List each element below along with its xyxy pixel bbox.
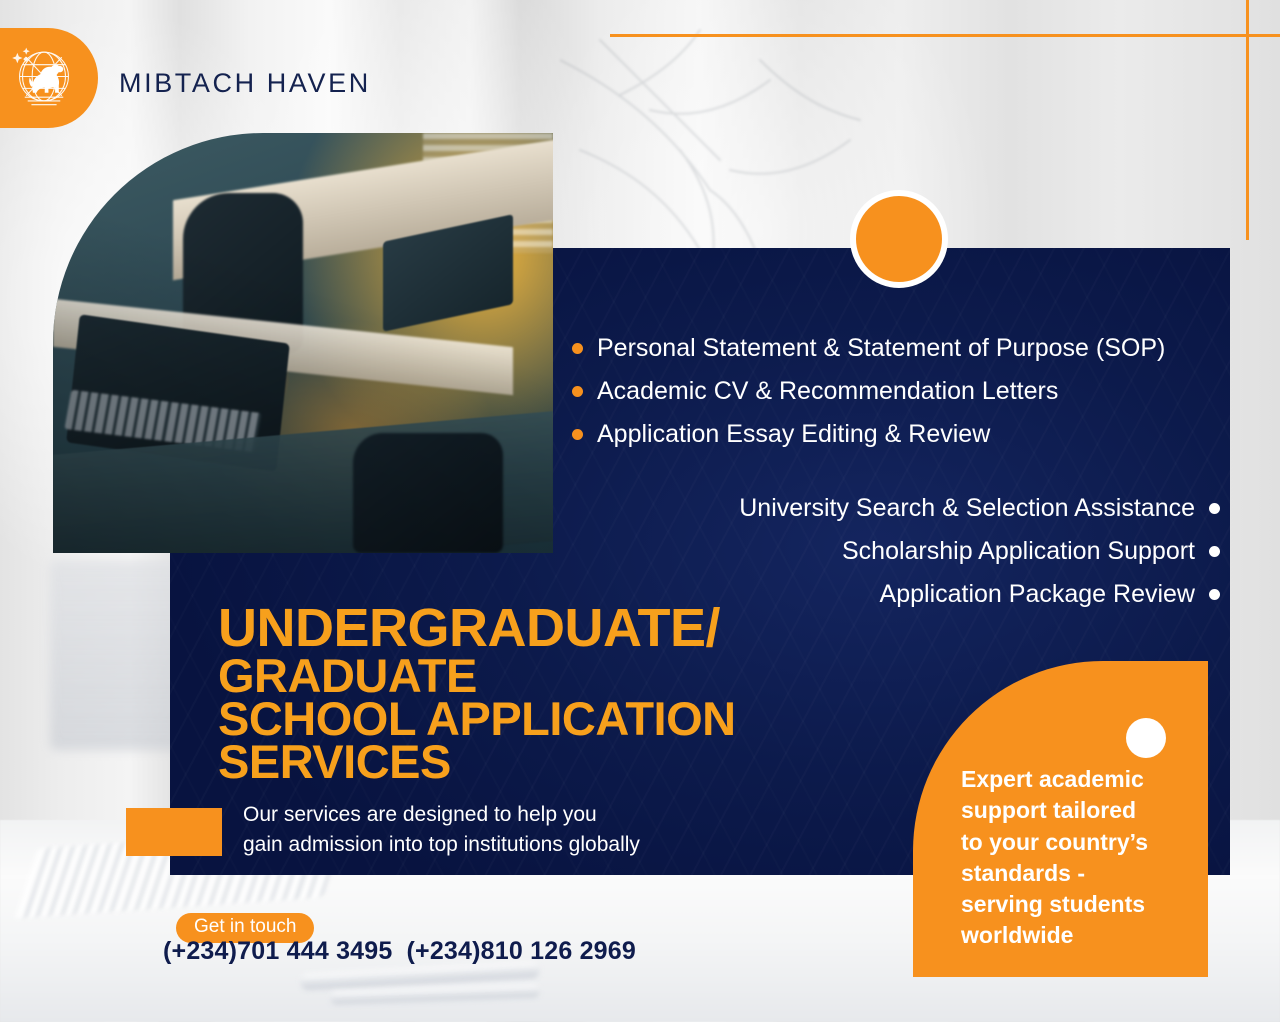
headline: UNDERGRADUATE/ GRADUATE SCHOOL APPLICATI…	[218, 604, 736, 783]
headline-line-3: SCHOOL APPLICATION	[218, 697, 736, 740]
brand-name: MIBTACH HAVEN	[119, 68, 371, 99]
bullet-dot-icon	[572, 386, 583, 397]
horizontal-accent-rule	[610, 34, 1280, 37]
phone-number-2[interactable]: (+234)810 126 2969	[407, 937, 637, 965]
headline-line-4: SERVICES	[218, 740, 736, 783]
list-item: Academic CV & Recommendation Letters	[572, 375, 1272, 407]
orange-rectangle-accent	[126, 808, 222, 856]
subtitle-line-2: gain admission into top institutions glo…	[243, 830, 803, 860]
list-item: Scholarship Application Support	[520, 535, 1220, 567]
service-label: Application Essay Editing & Review	[597, 418, 990, 450]
subtitle-line-1: Our services are designed to help you	[243, 800, 803, 830]
background-monitor-blur	[50, 560, 190, 750]
bullet-dot-icon	[1209, 589, 1220, 600]
headline-line-1: UNDERGRADUATE/	[218, 604, 736, 654]
hero-office-photo	[53, 133, 553, 553]
callout-line-5: serving students	[961, 889, 1186, 920]
bullet-dot-icon	[1209, 503, 1220, 514]
logo-badge	[0, 28, 98, 128]
bullet-dot-icon	[1209, 546, 1220, 557]
headline-line-2: GRADUATE	[218, 654, 736, 697]
services-list-left: Personal Statement & Statement of Purpos…	[572, 332, 1272, 461]
bullet-dot-icon	[572, 429, 583, 440]
callout-line-6: worldwide	[961, 920, 1186, 951]
subtitle: Our services are designed to help you ga…	[243, 800, 803, 861]
service-label: Application Package Review	[880, 578, 1195, 610]
callout-line-3: to your country’s	[961, 827, 1186, 858]
callout-line-1: Expert academic	[961, 764, 1186, 795]
lion-globe-logo-icon	[7, 41, 81, 115]
phone-number-1[interactable]: (+234)701 444 3495	[163, 937, 393, 965]
orange-accent-circle	[850, 190, 948, 288]
callout-line-4: standards -	[961, 858, 1186, 889]
flyer-canvas: MIBTACH HAVEN Personal Statement & State…	[0, 0, 1280, 1022]
list-item: Personal Statement & Statement of Purpos…	[572, 332, 1272, 364]
service-label: Academic CV & Recommendation Letters	[597, 375, 1058, 407]
vertical-accent-rule	[1246, 0, 1249, 240]
callout-text: Expert academic support tailored to your…	[961, 764, 1186, 952]
phone-numbers: (+234)701 444 3495(+234)810 126 2969	[163, 937, 636, 966]
service-label: Scholarship Application Support	[842, 535, 1195, 567]
service-label: University Search & Selection Assistance	[739, 492, 1195, 524]
callout-white-circle-icon	[1126, 718, 1166, 758]
callout-line-2: support tailored	[961, 795, 1186, 826]
bullet-dot-icon	[572, 343, 583, 354]
list-item: University Search & Selection Assistance	[520, 492, 1220, 524]
list-item: Application Essay Editing & Review	[572, 418, 1272, 450]
hero-photo-inner	[53, 133, 553, 553]
service-label: Personal Statement & Statement of Purpos…	[597, 332, 1165, 364]
hero-photo-shading	[53, 133, 553, 553]
